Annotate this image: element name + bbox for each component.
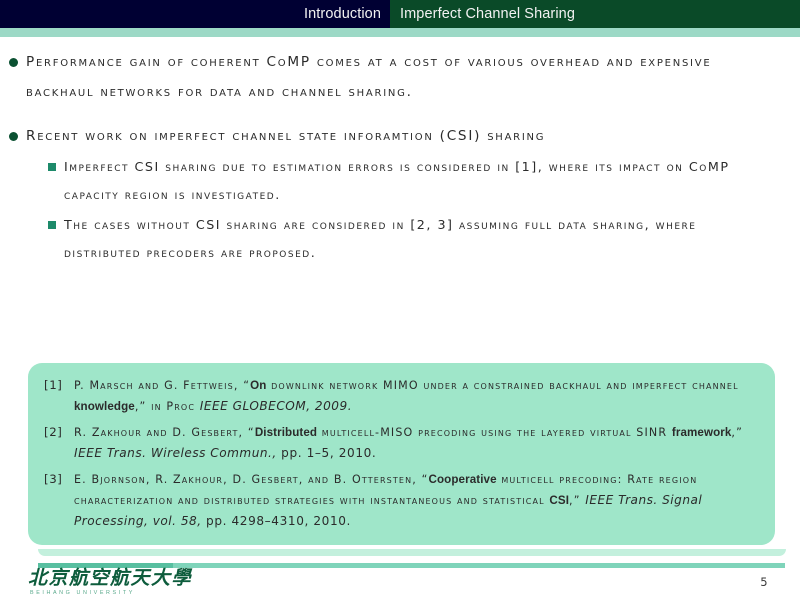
references-box: [1] P. Marsch and G. Fettweis, “On downl… bbox=[28, 363, 775, 545]
header-subsection-area: Imperfect Channel Sharing bbox=[390, 0, 800, 28]
bullet-text-4: The cases without CSI sharing are consid… bbox=[64, 211, 800, 267]
bullet-item-1: Performance gain of coherent CoMP comes … bbox=[0, 47, 800, 107]
header-section-area: Introduction bbox=[0, 0, 390, 28]
presentation-slide: Introduction Imperfect Channel Sharing P… bbox=[0, 0, 800, 600]
square-bullet-icon bbox=[40, 211, 64, 229]
bullet-text-3: Imperfect CSI sharing due to estimation … bbox=[64, 153, 800, 209]
logo-chinese-name: 北京航空航天大學 bbox=[28, 568, 238, 589]
header-accent-band bbox=[0, 28, 800, 37]
reference-number: [2] bbox=[44, 422, 74, 443]
bullet-item-2: Recent work on imperfect channel state i… bbox=[0, 121, 800, 151]
reference-number: [3] bbox=[44, 469, 74, 490]
square-bullet-icon bbox=[40, 153, 64, 171]
reference-text: E. Bjornson, R. Zakhour, D. Gesbert, and… bbox=[74, 469, 761, 532]
footer-bar-right bbox=[173, 563, 785, 568]
bullet-text-1: Performance gain of coherent CoMP comes … bbox=[26, 47, 800, 107]
slide-header: Introduction Imperfect Channel Sharing bbox=[0, 0, 800, 28]
footer-mint-strip bbox=[38, 549, 786, 556]
reference-item: [3] E. Bjornson, R. Zakhour, D. Gesbert,… bbox=[44, 469, 761, 532]
logo-english-name: BEIHANG UNIVERSITY bbox=[28, 589, 238, 597]
reference-text: R. Zakhour and D. Gesbert, “Distributed … bbox=[74, 422, 761, 464]
reference-item: [2] R. Zakhour and D. Gesbert, “Distribu… bbox=[44, 422, 761, 464]
slide-body: Performance gain of coherent CoMP comes … bbox=[0, 37, 800, 267]
bullet-item-4: The cases without CSI sharing are consid… bbox=[40, 211, 800, 267]
bullet-item-3: Imperfect CSI sharing due to estimation … bbox=[40, 153, 800, 209]
reference-item: [1] P. Marsch and G. Fettweis, “On downl… bbox=[44, 375, 761, 417]
bullet-text-2: Recent work on imperfect channel state i… bbox=[26, 121, 585, 151]
reference-text: P. Marsch and G. Fettweis, “On downlink … bbox=[74, 375, 761, 417]
sub-bullet-group: Imperfect CSI sharing due to estimation … bbox=[0, 153, 800, 267]
page-number: 5 bbox=[760, 575, 768, 589]
breadcrumb-section[interactable]: Introduction bbox=[304, 6, 381, 22]
reference-number: [1] bbox=[44, 375, 74, 396]
disc-bullet-icon bbox=[0, 121, 26, 141]
university-logo: 北京航空航天大學 BEIHANG UNIVERSITY bbox=[28, 568, 238, 598]
disc-bullet-icon bbox=[0, 47, 26, 67]
breadcrumb-subsection[interactable]: Imperfect Channel Sharing bbox=[400, 6, 575, 22]
